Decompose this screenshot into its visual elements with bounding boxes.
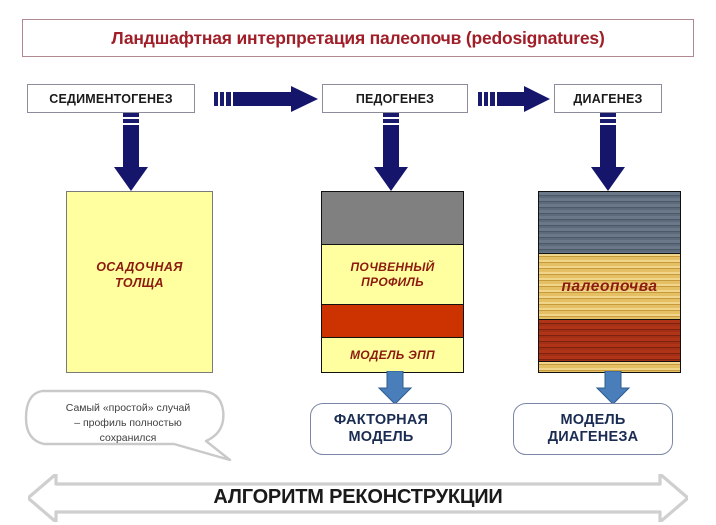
diagenesis-model-line-1: МОДЕЛЬ: [548, 412, 639, 429]
soil-profile-column: ПОЧВЕННЫЙ ПРОФИЛЬ МОДЕЛЬ ЭПП: [321, 191, 464, 373]
down-arrow-icon: [372, 113, 410, 196]
callout-line-2: – профиль полностью: [42, 416, 214, 431]
stage-label-diagenesis: ДИАГЕНЕЗ: [573, 92, 642, 106]
right-arrow-icon: [214, 86, 318, 117]
result-box-factor-model[interactable]: ФАКТОРНАЯ МОДЕЛЬ: [310, 403, 452, 455]
algorithm-banner: АЛГОРИТМ РЕКОНСТРУКЦИИ: [28, 474, 688, 522]
factor-model-line-1: ФАКТОРНАЯ: [334, 412, 428, 429]
paleosol-label: палеопочва: [539, 278, 680, 296]
epp-model-label: МОДЕЛЬ ЭПП: [350, 348, 435, 363]
page-title: Ландшафтная интерпретация палеопочв (ped…: [111, 28, 604, 49]
paleosol-band-bluegray: [539, 192, 680, 254]
diagenesis-model-label: МОДЕЛЬ ДИАГЕНЕЗА: [548, 412, 639, 447]
paleosol-band-redbrown: [539, 320, 680, 362]
profile-band-red: [322, 304, 463, 338]
stage-label-pedogenesis: ПЕДОГЕНЕЗ: [356, 92, 434, 106]
right-arrow-icon: [478, 86, 550, 117]
profile-band-gray: [322, 192, 463, 245]
callout-text: Самый «простой» случай – профиль полност…: [42, 401, 214, 446]
paleosol-band-tan: палеопочва: [539, 254, 680, 320]
profile-band-label: ПОЧВЕННЫЙ ПРОФИЛЬ: [350, 260, 434, 289]
factor-model-label: ФАКТОРНАЯ МОДЕЛЬ: [334, 412, 428, 447]
sediment-label-line-1: ОСАДОЧНАЯ: [67, 260, 212, 276]
stage-box-diagenesis[interactable]: ДИАГЕНЕЗ: [554, 84, 662, 113]
profile-band-epp-model: МОДЕЛЬ ЭПП: [322, 338, 463, 372]
sediment-label-line-2: ТОЛЩА: [67, 276, 212, 292]
profile-label-line-2: ПРОФИЛЬ: [350, 275, 434, 290]
sediment-column-label: ОСАДОЧНАЯ ТОЛЩА: [67, 260, 212, 291]
stage-box-sedimentogenesis[interactable]: СЕДИМЕНТОГЕНЕЗ: [27, 84, 195, 113]
callout-line-1: Самый «простой» случай: [42, 401, 214, 416]
result-box-diagenesis-model[interactable]: МОДЕЛЬ ДИАГЕНЕЗА: [513, 403, 673, 455]
diagenesis-model-line-2: ДИАГЕНЕЗА: [548, 429, 639, 446]
profile-label-line-1: ПОЧВЕННЫЙ: [350, 260, 434, 275]
sediment-column: ОСАДОЧНАЯ ТОЛЩА: [66, 191, 213, 373]
paleosol-column: палеопочва: [538, 191, 681, 373]
algorithm-banner-label: АЛГОРИТМ РЕКОНСТРУКЦИИ: [28, 486, 688, 509]
stage-label-sedimentogenesis: СЕДИМЕНТОГЕНЕЗ: [49, 92, 173, 106]
page-title-box: Ландшафтная интерпретация палеопочв (ped…: [22, 19, 694, 57]
down-arrow-icon: [112, 113, 150, 196]
factor-model-line-2: МОДЕЛЬ: [334, 429, 428, 446]
callout-bubble: Самый «простой» случай – профиль полност…: [24, 388, 232, 462]
down-arrow-icon: [589, 113, 627, 196]
callout-line-3: сохранился: [42, 431, 214, 446]
stage-box-pedogenesis[interactable]: ПЕДОГЕНЕЗ: [322, 84, 468, 113]
profile-band-soil-profile: ПОЧВЕННЫЙ ПРОФИЛЬ: [322, 245, 463, 304]
